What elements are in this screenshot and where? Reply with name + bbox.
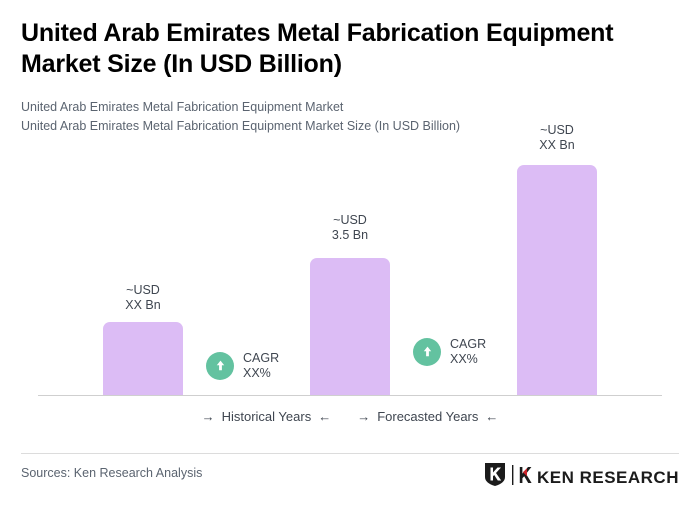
arrow-right-icon: →	[202, 410, 215, 423]
bar-value-label-2-line2: 3.5 Bn	[332, 228, 368, 242]
ken-research-shield-icon	[484, 462, 506, 492]
bar-value-label-1-line1: ~USD	[126, 283, 160, 297]
page-title: United Arab Emirates Metal Fabrication E…	[21, 18, 671, 80]
period-forecasted-label: Forecasted Years	[377, 409, 478, 424]
logo-k-accent-icon	[519, 466, 532, 489]
plot-area: ~USD XX Bn ~USD 3.5 Bn ~USD XX Bn	[0, 120, 700, 400]
bar-value-label-1-line2: XX Bn	[125, 298, 160, 312]
up-arrow-icon	[206, 352, 234, 380]
bar-value-label-2-line1: ~USD	[333, 213, 367, 227]
cagr-label-forecast: CAGR XX%	[450, 337, 486, 366]
cagr-label-forecast-line2: XX%	[450, 352, 478, 366]
axis-baseline	[38, 395, 662, 396]
period-historical: → Historical Years ←	[202, 409, 332, 424]
sources-text: Sources: Ken Research Analysis	[21, 466, 202, 480]
bar-value-label-3: ~USD XX Bn	[517, 123, 597, 152]
arrow-left-icon: ←	[318, 410, 331, 423]
logo-divider-bar	[511, 465, 514, 490]
subtitle-line-1: United Arab Emirates Metal Fabrication E…	[21, 98, 641, 117]
arrow-left-icon: ←	[485, 410, 498, 423]
up-arrow-icon	[413, 338, 441, 366]
cagr-label-historical: CAGR XX%	[243, 351, 279, 380]
bar-value-label-3-line1: ~USD	[540, 123, 574, 137]
cagr-label-historical-line1: CAGR	[243, 351, 279, 365]
cagr-badge-forecast: CAGR XX%	[413, 337, 486, 366]
cagr-label-forecast-line1: CAGR	[450, 337, 486, 351]
cagr-badge-historical: CAGR XX%	[206, 351, 279, 380]
chart-page: United Arab Emirates Metal Fabrication E…	[0, 0, 700, 520]
period-forecasted: → Forecasted Years ←	[357, 409, 498, 424]
bar-value-label-3-line2: XX Bn	[539, 138, 574, 152]
period-legend: → Historical Years ← → Forecasted Years …	[0, 409, 700, 424]
bar-1[interactable]	[103, 322, 183, 395]
ken-research-logo: KEN RESEARCH	[484, 462, 679, 492]
bar-value-label-1: ~USD XX Bn	[103, 283, 183, 312]
bar-3[interactable]	[517, 165, 597, 395]
footer-divider	[21, 453, 679, 454]
cagr-label-historical-line2: XX%	[243, 366, 271, 380]
bar-2[interactable]	[310, 258, 390, 395]
period-historical-label: Historical Years	[222, 409, 312, 424]
logo-wordmark: KEN RESEARCH	[537, 469, 679, 486]
arrow-right-icon: →	[357, 410, 370, 423]
bar-value-label-2: ~USD 3.5 Bn	[310, 213, 390, 242]
